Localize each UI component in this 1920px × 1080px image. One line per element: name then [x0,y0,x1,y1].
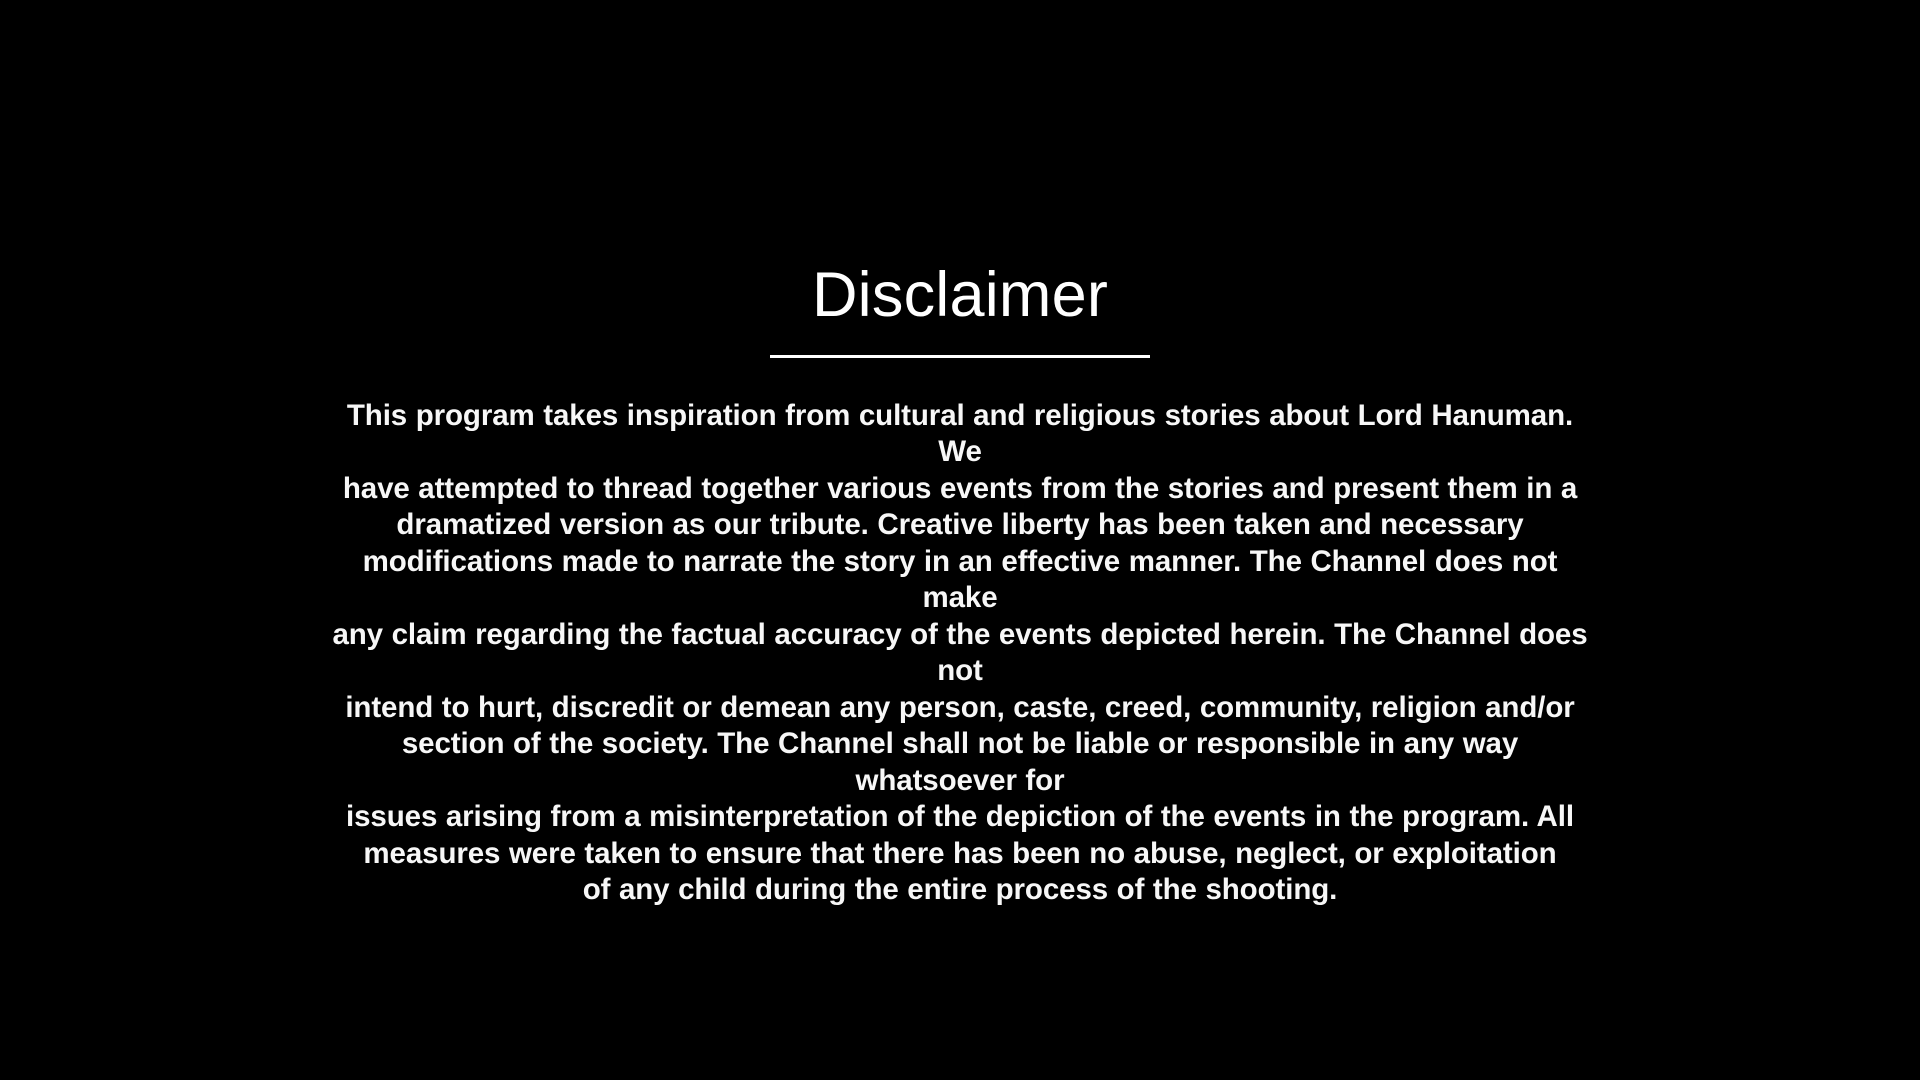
page-title: Disclaimer [140,262,1780,329]
disclaimer-card: Disclaimer This program takes inspiratio… [140,262,1780,909]
disclaimer-screen: Disclaimer This program takes inspiratio… [0,0,1920,1080]
title-underline-rule [770,355,1150,358]
disclaimer-body-text: This program takes inspiration from cult… [330,398,1590,909]
